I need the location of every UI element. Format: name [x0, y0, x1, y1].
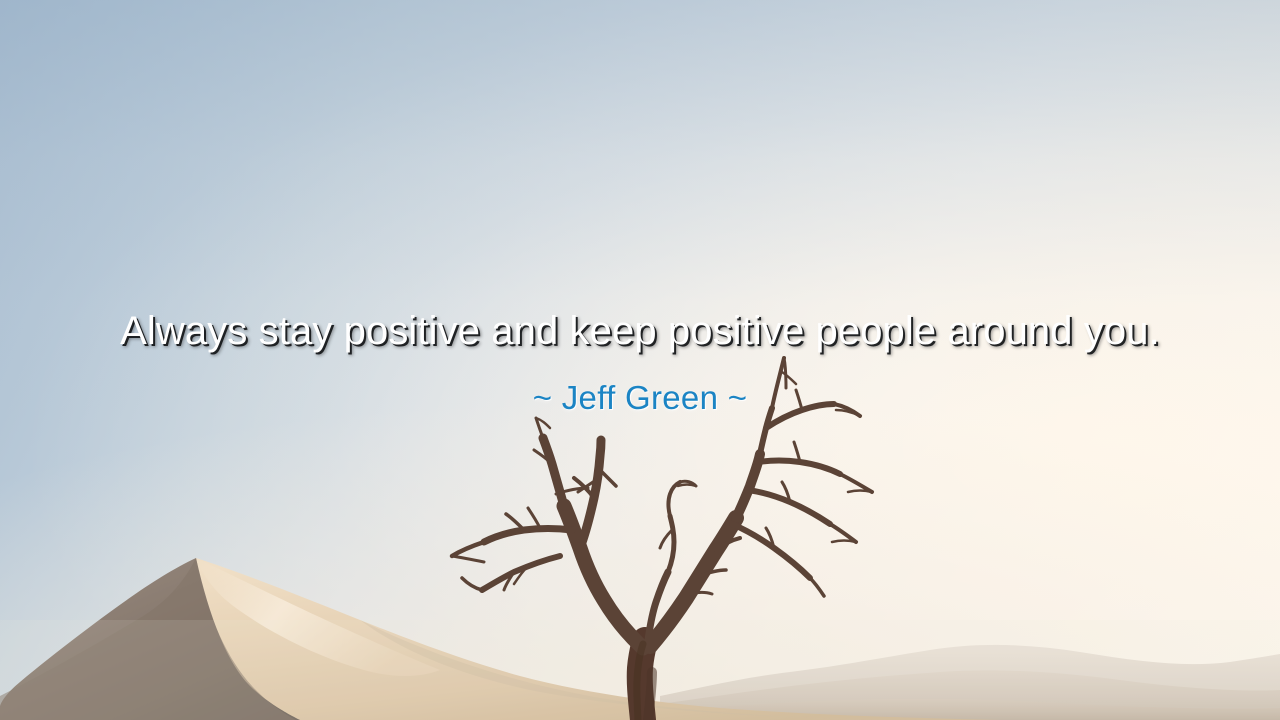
- dead-tree: [0, 0, 1280, 720]
- quote-author: ~ Jeff Green ~: [0, 378, 1280, 418]
- quote-image-scene: Always stay positive and keep positive p…: [0, 0, 1280, 720]
- quote-text: Always stay positive and keep positive p…: [0, 307, 1280, 355]
